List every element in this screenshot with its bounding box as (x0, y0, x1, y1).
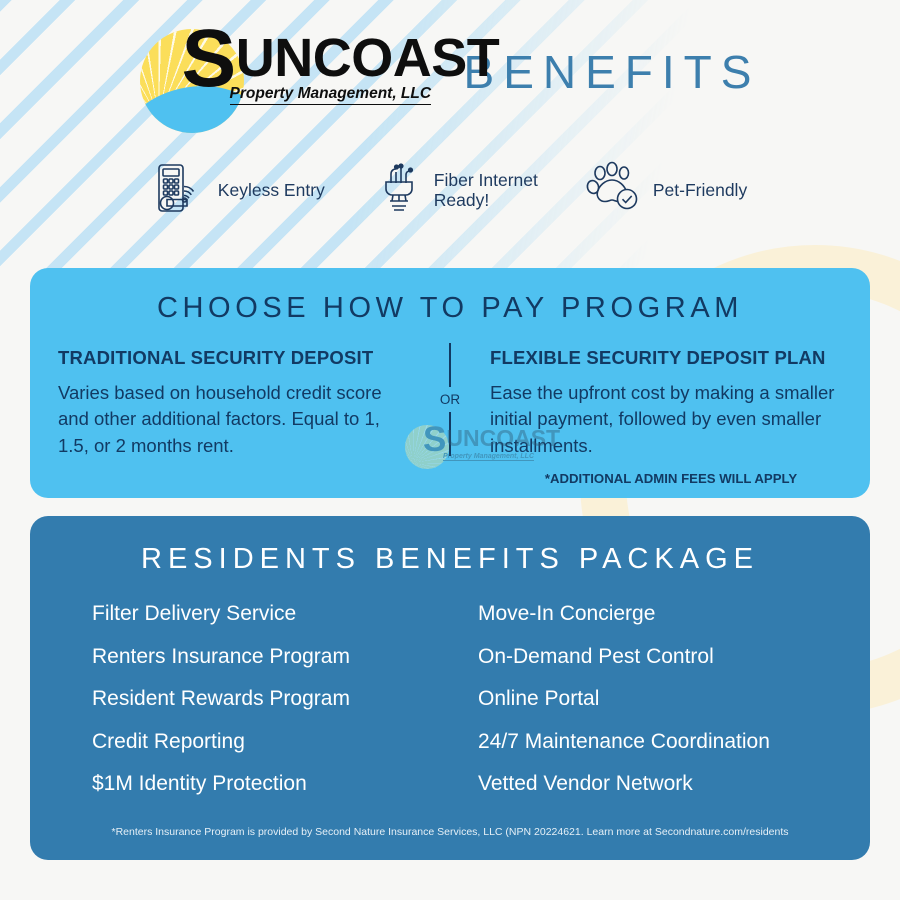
feature-row: Keyless Entry Fiber Internet Ready! (0, 160, 900, 221)
pay-panel-title: CHOOSE HOW TO PAY PROGRAM (30, 292, 870, 325)
list-item: Credit Reporting (92, 731, 450, 752)
or-label: OR (440, 387, 460, 412)
flexible-deposit-body: Ease the upfront cost by making a smalle… (490, 380, 852, 459)
traditional-deposit-heading: TRADITIONAL SECURITY DEPOSIT (58, 347, 410, 369)
list-item: Online Portal (478, 688, 870, 709)
feature-pet-friendly: Pet-Friendly (586, 161, 747, 220)
logo-wordmark: SUNCOAST Property Management, LLC (182, 31, 452, 105)
rbp-footnote: *Renters Insurance Program is provided b… (30, 826, 870, 838)
traditional-deposit-body: Varies based on household credit score a… (58, 380, 410, 459)
header: SUNCOAST Property Management, LLC BENEFI… (0, 16, 900, 136)
choose-how-to-pay-panel: CHOOSE HOW TO PAY PROGRAM TRADITIONAL SE… (30, 268, 870, 498)
feature-label: Pet-Friendly (653, 181, 747, 201)
residents-benefits-package-panel: RESIDENTS BENEFITS PACKAGE Filter Delive… (30, 516, 870, 860)
admin-fees-note: *ADDITIONAL ADMIN FEES WILL APPLY (490, 471, 852, 486)
list-item: Renters Insurance Program (92, 646, 450, 667)
flexible-deposit-column: FLEXIBLE SECURITY DEPOSIT PLAN Ease the … (450, 347, 870, 486)
rbp-columns: Filter Delivery Service Renters Insuranc… (30, 603, 870, 816)
list-item: On-Demand Pest Control (478, 646, 870, 667)
paw-check-icon (586, 161, 644, 220)
feature-label: Fiber Internet Ready! (434, 171, 538, 210)
feature-label: Keyless Entry (218, 181, 325, 201)
pay-panel-columns: TRADITIONAL SECURITY DEPOSIT Varies base… (30, 347, 870, 486)
divider-line-bottom (449, 412, 451, 456)
flexible-deposit-heading: FLEXIBLE SECURITY DEPOSIT PLAN (490, 347, 852, 369)
list-item: Resident Rewards Program (92, 688, 450, 709)
logo-word-rest: UNCOAST (236, 28, 500, 88)
suncoast-logo: SUNCOAST Property Management, LLC (140, 21, 440, 131)
fiber-optic-icon (373, 160, 425, 221)
logo-word: SUNCOAST (182, 31, 452, 85)
logo-tagline: Property Management, LLC (230, 85, 432, 105)
list-item: 24/7 Maintenance Coordination (478, 731, 870, 752)
list-item: $1M Identity Protection (92, 773, 450, 794)
rbp-left-column: Filter Delivery Service Renters Insuranc… (30, 603, 450, 816)
list-item: Move-In Concierge (478, 603, 870, 624)
keypad-lock-icon (153, 160, 209, 221)
feature-fiber-internet: Fiber Internet Ready! (373, 160, 538, 221)
list-item: Filter Delivery Service (92, 603, 450, 624)
logo-initial: S (182, 13, 236, 104)
traditional-deposit-column: TRADITIONAL SECURITY DEPOSIT Varies base… (30, 347, 450, 486)
or-divider: OR (430, 343, 470, 456)
rbp-title: RESIDENTS BENEFITS PACKAGE (30, 543, 870, 576)
page-title: BENEFITS (464, 45, 761, 99)
list-item: Vetted Vendor Network (478, 773, 870, 794)
divider-line-top (449, 343, 451, 387)
feature-keyless-entry: Keyless Entry (153, 160, 325, 221)
rbp-right-column: Move-In Concierge On-Demand Pest Control… (450, 603, 870, 816)
